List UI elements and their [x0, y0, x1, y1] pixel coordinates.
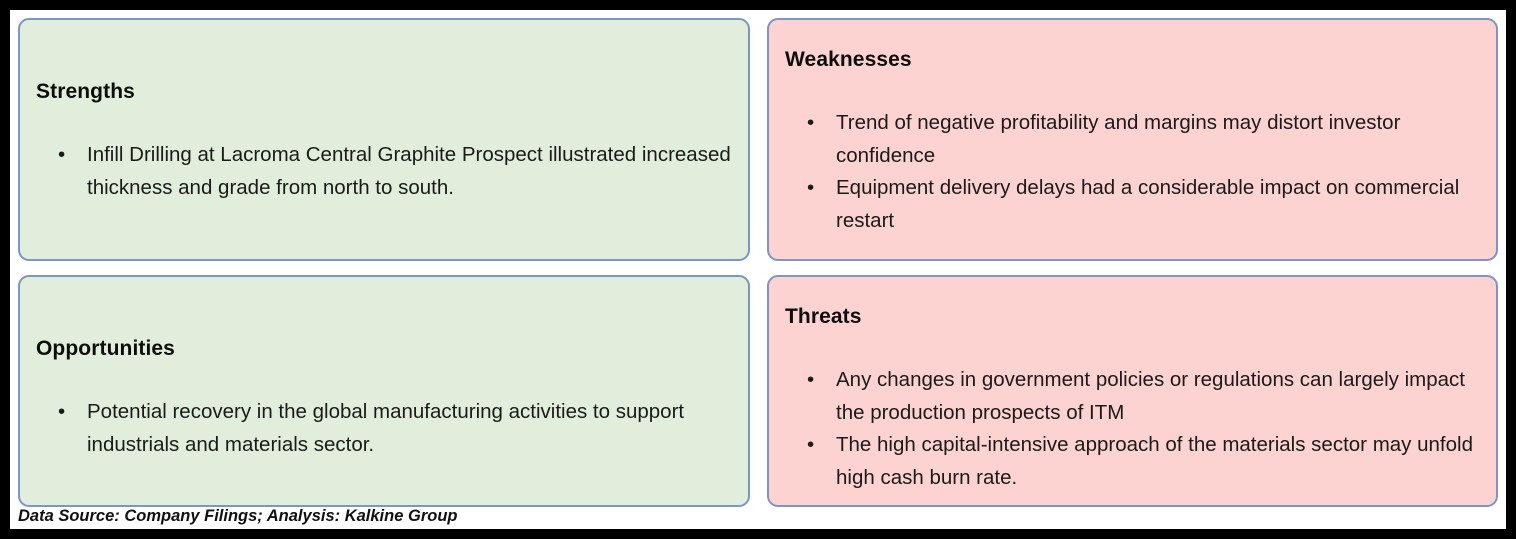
source-caption: Data Source: Company Filings; Analysis: … [18, 507, 457, 526]
opportunities-bullet-list: • Potential recovery in the global manuf… [36, 396, 732, 461]
swot-grid: Strengths • Infill Drilling at Lacroma C… [10, 10, 1506, 529]
strengths-bullet-list: • Infill Drilling at Lacroma Central Gra… [36, 139, 732, 204]
swot-card-threats: Threats • Any changes in government poli… [767, 275, 1498, 507]
list-item-text: Potential recovery in the global manufac… [87, 400, 684, 456]
bullet-icon: • [58, 139, 65, 172]
list-item-text: Equipment delivery delays had a consider… [836, 176, 1459, 232]
list-item: • Equipment delivery delays had a consid… [785, 172, 1480, 237]
list-item: • Infill Drilling at Lacroma Central Gra… [36, 139, 732, 204]
swot-analysis-figure: Strengths • Infill Drilling at Lacroma C… [0, 0, 1516, 539]
bullet-icon: • [807, 364, 814, 397]
list-item-text: Trend of negative profitability and marg… [836, 111, 1400, 167]
weaknesses-bullet-list: • Trend of negative profitability and ma… [785, 107, 1480, 237]
bullet-icon: • [58, 396, 65, 429]
weaknesses-title: Weaknesses [785, 48, 1480, 71]
list-item-text: Any changes in government policies or re… [836, 368, 1465, 424]
swot-row-top: Strengths • Infill Drilling at Lacroma C… [18, 18, 1498, 261]
list-item-text: The high capital-intensive approach of t… [836, 433, 1473, 489]
bullet-icon: • [807, 172, 814, 205]
list-item-text: Infill Drilling at Lacroma Central Graph… [87, 143, 731, 199]
swot-card-strengths: Strengths • Infill Drilling at Lacroma C… [18, 18, 750, 261]
swot-row-bottom: Opportunities • Potential recovery in th… [18, 275, 1498, 507]
list-item: • Any changes in government policies or … [785, 364, 1480, 429]
threats-title: Threats [785, 305, 1480, 328]
opportunities-title: Opportunities [36, 337, 732, 360]
list-item: • Trend of negative profitability and ma… [785, 107, 1480, 172]
strengths-title: Strengths [36, 80, 732, 103]
list-item: • Potential recovery in the global manuf… [36, 396, 732, 461]
swot-card-opportunities: Opportunities • Potential recovery in th… [18, 275, 750, 507]
swot-card-weaknesses: Weaknesses • Trend of negative profitabi… [767, 18, 1498, 261]
bullet-icon: • [807, 429, 814, 462]
bullet-icon: • [807, 107, 814, 140]
list-item: • The high capital-intensive approach of… [785, 429, 1480, 494]
threats-bullet-list: • Any changes in government policies or … [785, 364, 1480, 494]
